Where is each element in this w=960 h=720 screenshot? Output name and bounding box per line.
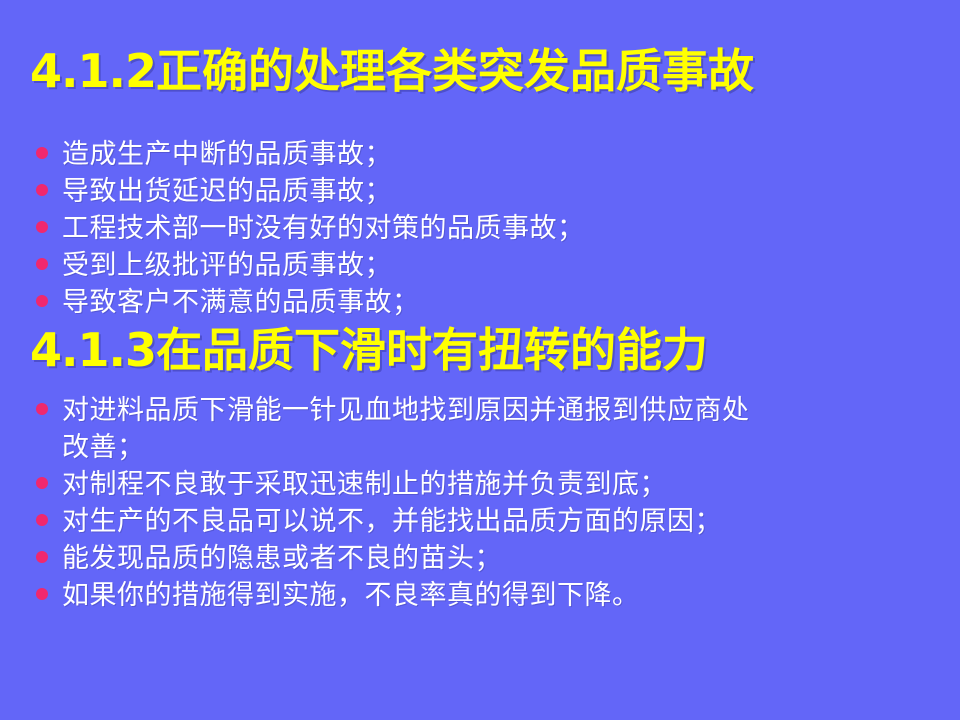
list-item-text: 导致出货延迟的品质事故； bbox=[62, 173, 782, 210]
section-heading-413: 4.1.3在品质下滑时有扭转的能力 bbox=[30, 327, 708, 374]
bullet-dot-icon bbox=[36, 258, 48, 270]
slide-canvas: 4.1.2正确的处理各类突发品质事故 造成生产中断的品质事故； 导致出货延迟的品… bbox=[0, 0, 960, 720]
list-item-text: 工程技术部一时没有好的对策的品质事故； bbox=[62, 210, 782, 247]
section-title-412: 正确的处理各类突发品质事故 bbox=[156, 46, 754, 97]
bullet-dot-icon bbox=[36, 221, 48, 233]
bullet-dot-icon bbox=[36, 147, 48, 159]
list-item-text: 导致客户不满意的品质事故； bbox=[62, 284, 782, 321]
list-item: 导致客户不满意的品质事故； bbox=[0, 284, 960, 321]
bullet-list-412: 造成生产中断的品质事故； 导致出货延迟的品质事故； 工程技术部一时没有好的对策的… bbox=[0, 136, 960, 321]
list-item: 工程技术部一时没有好的对策的品质事故； bbox=[0, 210, 960, 247]
bullet-dot-icon bbox=[36, 184, 48, 196]
list-item: 能发现品质的隐患或者不良的苗头； bbox=[0, 540, 960, 577]
list-item-text: 受到上级批评的品质事故； bbox=[62, 247, 782, 284]
list-item-text: 如果你的措施得到实施，不良率真的得到下降。 bbox=[62, 577, 782, 614]
list-item: 对制程不良敢于采取迅速制止的措施并负责到底； bbox=[0, 466, 960, 503]
list-item: 对进料品质下滑能一针见血地找到原因并通报到供应商处改善； bbox=[0, 392, 960, 466]
bullet-dot-icon bbox=[36, 403, 48, 415]
bullet-dot-icon bbox=[36, 514, 48, 526]
section-heading-412: 4.1.2正确的处理各类突发品质事故 bbox=[30, 48, 754, 95]
section-number-413: 4.1.3 bbox=[30, 323, 156, 377]
list-item-text: 能发现品质的隐患或者不良的苗头； bbox=[62, 540, 782, 577]
list-item: 对生产的不良品可以说不，并能找出品质方面的原因； bbox=[0, 503, 960, 540]
bullet-dot-icon bbox=[36, 477, 48, 489]
section-number-412: 4.1.2 bbox=[30, 44, 156, 98]
list-item: 造成生产中断的品质事故； bbox=[0, 136, 960, 173]
list-item-text: 对生产的不良品可以说不，并能找出品质方面的原因； bbox=[62, 503, 782, 540]
bullet-dot-icon bbox=[36, 588, 48, 600]
list-item: 导致出货延迟的品质事故； bbox=[0, 173, 960, 210]
list-item-text: 对制程不良敢于采取迅速制止的措施并负责到底； bbox=[62, 466, 782, 503]
bullet-list-413: 对进料品质下滑能一针见血地找到原因并通报到供应商处改善； 对制程不良敢于采取迅速… bbox=[0, 392, 960, 614]
bullet-dot-icon bbox=[36, 295, 48, 307]
list-item: 如果你的措施得到实施，不良率真的得到下降。 bbox=[0, 577, 960, 614]
list-item-text: 对进料品质下滑能一针见血地找到原因并通报到供应商处改善； bbox=[62, 392, 762, 466]
list-item: 受到上级批评的品质事故； bbox=[0, 247, 960, 284]
list-item-text: 造成生产中断的品质事故； bbox=[62, 136, 782, 173]
section-title-413: 在品质下滑时有扭转的能力 bbox=[156, 325, 708, 376]
bullet-dot-icon bbox=[36, 551, 48, 563]
